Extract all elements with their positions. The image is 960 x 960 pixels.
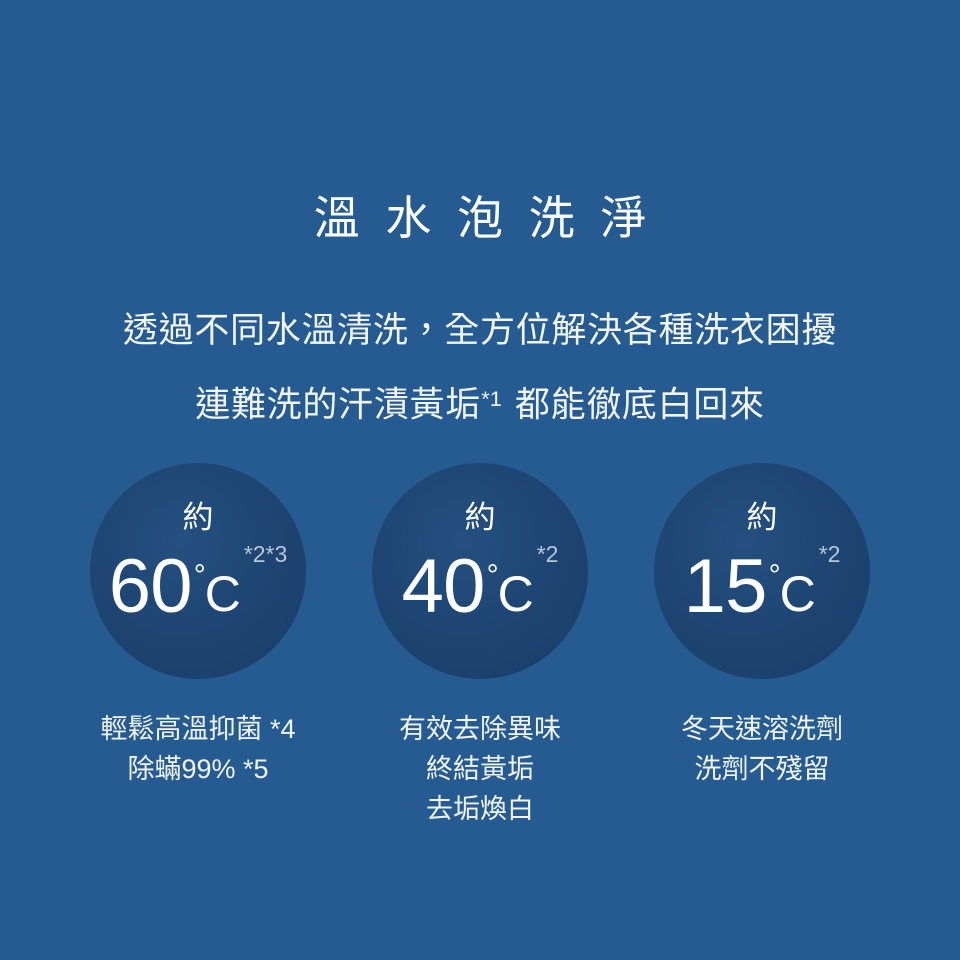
subtitle-line-2: 連難洗的汗漬黃垢*1 都能徹底白回來: [123, 369, 837, 435]
subtitle-block: 透過不同水溫清洗，全方位解決各種洗衣困擾 連難洗的汗漬黃垢*1 都能徹底白回來: [123, 301, 837, 435]
footnote-marker-40c: *2: [537, 543, 559, 566]
approx-label-40c: 約: [372, 501, 588, 535]
temperature-bubble-15c: 約 15 ° C *2: [654, 463, 870, 679]
caption-line: 除蟎99% *5: [100, 749, 295, 789]
feature-column-60c: 約 60 ° C *2*3 輕鬆高溫抑菌 *4 除蟎99% *5: [90, 463, 306, 829]
celsius-letter-40c: C: [498, 569, 534, 619]
feature-column-40c: 約 40 ° C *2 有效去除異味 終結黃垢 去垢煥白: [372, 463, 588, 829]
temperature-reading-60c: 60 ° C *2*3: [90, 549, 306, 625]
feature-circles-row: 約 60 ° C *2*3 輕鬆高溫抑菌 *4 除蟎99% *5 約: [0, 463, 960, 829]
footnote-marker-15c: *2: [819, 543, 841, 566]
temperature-value-40c: 40: [402, 549, 485, 625]
caption-line: 輕鬆高溫抑菌 *4: [100, 709, 295, 749]
footnote-marker-60c: *2*3: [244, 543, 287, 566]
subtitle-line-2-text-after: 都能徹底白回來: [515, 385, 765, 424]
temperature-reading-40c: 40 ° C *2: [372, 549, 588, 625]
temperature-bubble-60c: 約 60 ° C *2*3: [90, 463, 306, 679]
caption-line: 有效去除異味: [399, 709, 561, 749]
temperature-unit-15c: ° C: [769, 549, 816, 619]
caption-line: 去垢煥白: [399, 789, 561, 829]
feature-caption-60c: 輕鬆高溫抑菌 *4 除蟎99% *5: [100, 709, 295, 789]
feature-caption-40c: 有效去除異味 終結黃垢 去垢煥白: [399, 709, 561, 829]
temperature-reading-15c: 15 ° C *2: [654, 549, 870, 625]
subtitle-line-2-text-before: 連難洗的汗漬黃垢: [195, 385, 481, 424]
temperature-bubble-40c: 約 40 ° C *2: [372, 463, 588, 679]
caption-line: 終結黃垢: [399, 749, 561, 789]
promo-page: 溫 水 泡 洗 淨 透過不同水溫清洗，全方位解決各種洗衣困擾 連難洗的汗漬黃垢*…: [0, 0, 960, 960]
celsius-letter-15c: C: [780, 569, 816, 619]
subtitle-footnote-marker: *1: [481, 386, 502, 411]
feature-caption-15c: 冬天速溶洗劑 洗劑不殘留: [681, 709, 843, 789]
feature-column-15c: 約 15 ° C *2 冬天速溶洗劑 洗劑不殘留: [654, 463, 870, 829]
caption-line: 冬天速溶洗劑: [681, 709, 843, 749]
caption-line: 洗劑不殘留: [681, 749, 843, 789]
celsius-letter-60c: C: [205, 569, 241, 619]
approx-label-60c: 約: [90, 501, 306, 535]
temperature-value-60c: 60: [109, 549, 192, 625]
temperature-unit-40c: ° C: [487, 549, 534, 619]
temperature-value-15c: 15: [684, 549, 767, 625]
temperature-unit-60c: ° C: [194, 549, 241, 619]
approx-label-15c: 約: [654, 501, 870, 535]
page-title: 溫 水 泡 洗 淨: [307, 188, 653, 248]
subtitle-line-1: 透過不同水溫清洗，全方位解決各種洗衣困擾: [123, 301, 837, 361]
